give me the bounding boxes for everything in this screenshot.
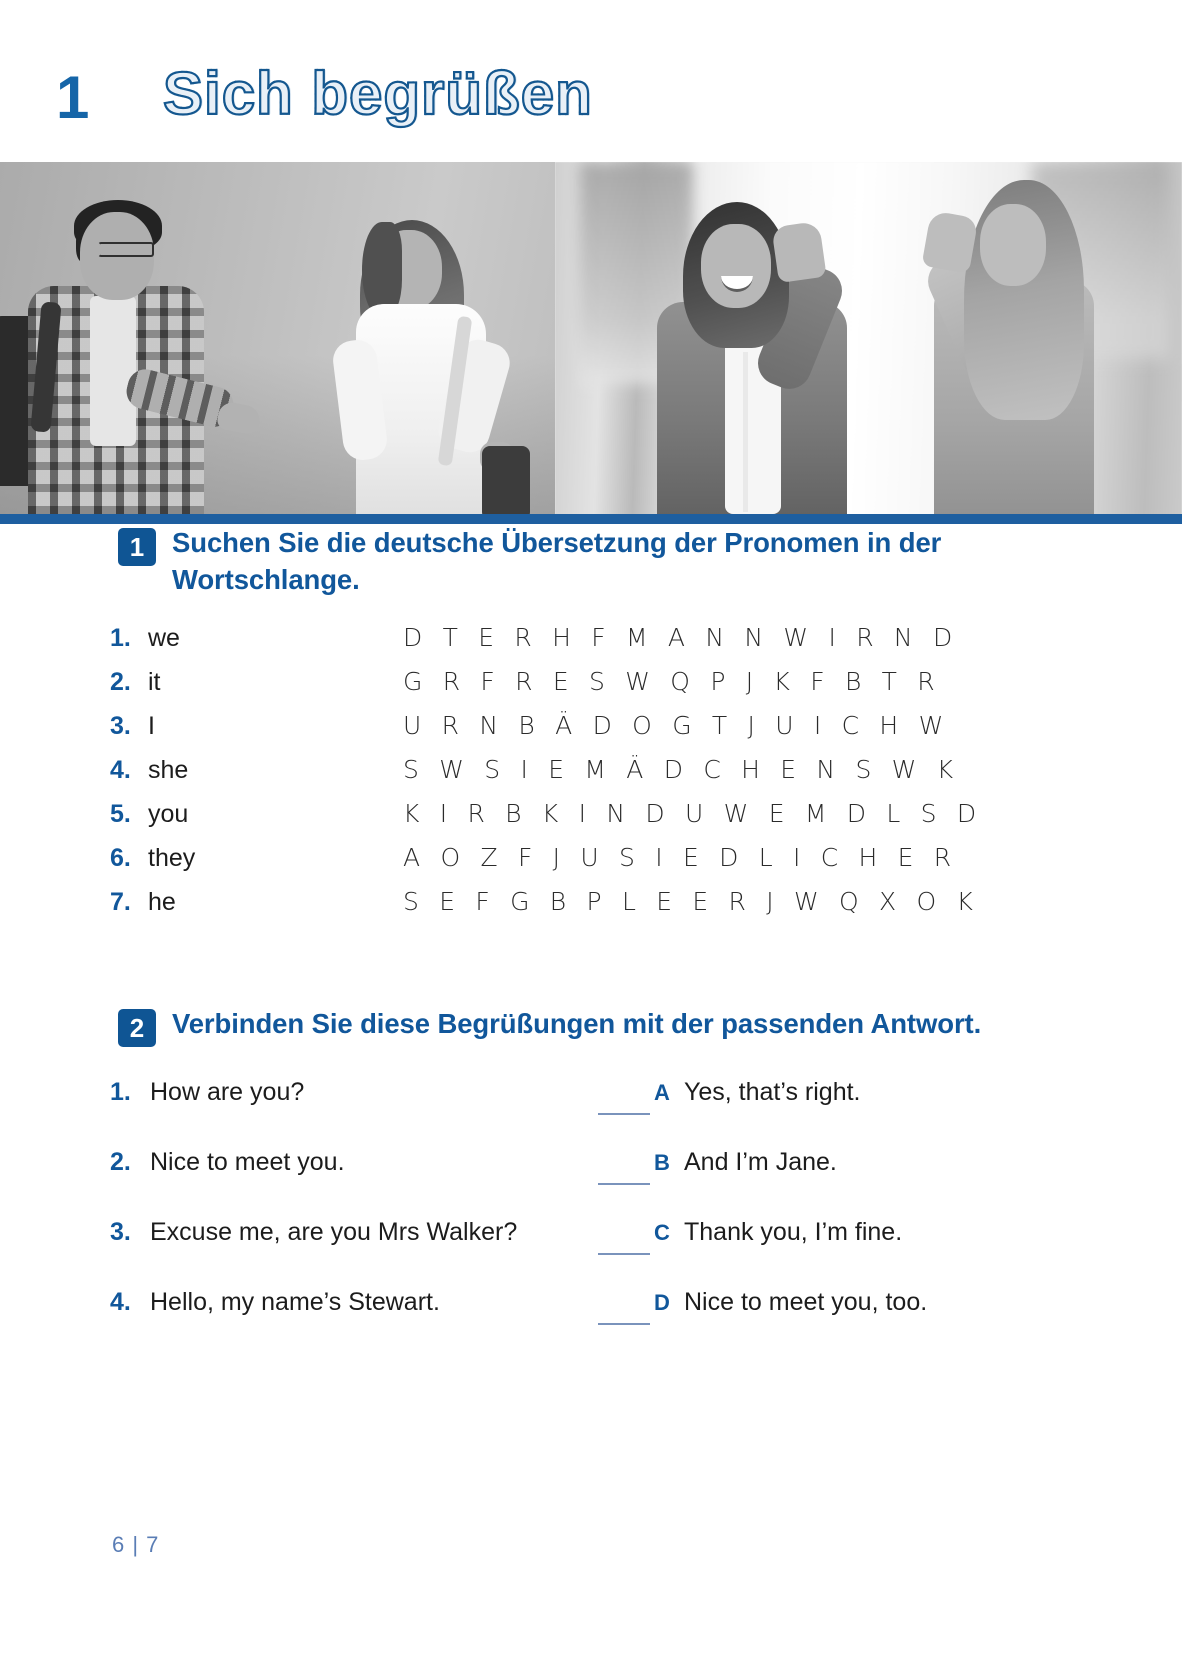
shoulder-bag — [482, 446, 530, 520]
list-item: 4. she S W S I E M Ä D C H E N S W K — [110, 755, 1182, 799]
letter-chain[interactable]: S W S I E M Ä D C H E N S W K — [403, 755, 959, 784]
person-female-student — [330, 220, 555, 520]
exercise-1: 1 Suchen Sie die deutsche Übersetzung de… — [0, 524, 1182, 931]
waving-hand — [771, 221, 826, 283]
item-number: 5. — [110, 800, 148, 829]
inner-shirt — [90, 296, 136, 446]
prompt-text: How are you? — [150, 1075, 598, 1111]
letter-chain[interactable]: K I R B K I N D U W E M D L S D — [403, 799, 982, 828]
item-number: 1. — [110, 624, 148, 653]
letter-chain[interactable]: U R N B Ä D O G T J U I C H W — [403, 711, 950, 740]
table-row: 2. Nice to meet you. B And I’m Jane. — [110, 1145, 1112, 1185]
answer-blank[interactable] — [598, 1229, 650, 1255]
list-item: 7. he S E F G B P L E E R J W Q X O K — [110, 887, 1182, 931]
page-header: 1 Sich begrüßen — [0, 0, 1182, 162]
option-letter: C — [650, 1215, 684, 1250]
exercise-2: 2 Verbinden Sie diese Begrüßungen mit de… — [0, 1005, 1182, 1325]
word-snake-list: 1. we D T E R H F M A N N W I R N D 2. i… — [0, 623, 1182, 931]
option-text: Thank you, I’m fine. — [684, 1215, 1112, 1251]
option-text: And I’m Jane. — [684, 1145, 1112, 1181]
glasses-icon — [98, 242, 154, 257]
page-title: Sich begrüßen — [163, 64, 593, 124]
item-number: 1. — [110, 1075, 150, 1111]
list-item: 2. it G R F R E S W Q P J K F B T R — [110, 667, 1182, 711]
item-number: 3. — [110, 1215, 150, 1251]
exercise-1-heading: 1 Suchen Sie die deutsche Übersetzung de… — [0, 524, 1182, 599]
face — [701, 224, 771, 308]
letter-chain[interactable]: G R F R E S W Q P J K F B T R — [403, 667, 941, 696]
item-number: 6. — [110, 844, 148, 873]
exercise-2-badge: 2 — [118, 1009, 156, 1047]
item-number: 4. — [110, 756, 148, 785]
item-number: 4. — [110, 1285, 150, 1321]
exercise-2-heading: 2 Verbinden Sie diese Begrüßungen mit de… — [0, 1005, 1182, 1047]
item-number: 3. — [110, 712, 148, 741]
option-letter: D — [650, 1285, 684, 1320]
pronoun-word: I — [148, 712, 403, 741]
page-number-footer: 6 | 7 — [112, 1532, 159, 1558]
option-letter: A — [650, 1075, 684, 1110]
pronoun-word: they — [148, 844, 403, 873]
photo-friends-waving — [555, 162, 1182, 520]
list-item: 6. they A O Z F J U S I E D L I C H E R — [110, 843, 1182, 887]
item-number: 2. — [110, 668, 148, 697]
pronoun-word: she — [148, 756, 403, 785]
photo-students-greeting — [0, 162, 555, 520]
table-row: 4. Hello, my name’s Stewart. D Nice to m… — [110, 1285, 1112, 1325]
photo-divider-rule — [0, 514, 1182, 524]
answer-blank[interactable] — [598, 1299, 650, 1325]
photo-band — [0, 162, 1182, 520]
letter-chain[interactable]: D T E R H F M A N N W I R N D — [403, 623, 958, 652]
prompt-text: Nice to meet you. — [150, 1145, 598, 1181]
pronoun-word: it — [148, 668, 403, 697]
item-number: 7. — [110, 888, 148, 917]
chapter-number: 1 — [56, 68, 88, 128]
person-male-student — [0, 190, 244, 520]
letter-chain[interactable]: A O Z F J U S I E D L I C H E R — [403, 843, 957, 872]
exercise-1-badge: 1 — [118, 528, 156, 566]
answer-blank[interactable] — [598, 1089, 650, 1115]
list-item: 1. we D T E R H F M A N N W I R N D — [110, 623, 1182, 667]
letter-chain[interactable]: S E F G B P L E E R J W Q X O K — [403, 887, 979, 916]
person-waving-right — [874, 180, 1124, 520]
exercise-1-title: Suchen Sie die deutsche Übersetzung der … — [172, 524, 992, 599]
matching-exercise-grid: 1. How are you? A Yes, that’s right. 2. … — [0, 1075, 1182, 1325]
face — [980, 204, 1046, 286]
prompt-text: Excuse me, are you Mrs Walker? — [150, 1215, 598, 1251]
answer-blank[interactable] — [598, 1159, 650, 1185]
waving-hand — [922, 210, 979, 273]
option-letter: B — [650, 1145, 684, 1180]
list-item: 5. you K I R B K I N D U W E M D L S D — [110, 799, 1182, 843]
person-waving-left — [647, 202, 887, 520]
prompt-text: Hello, my name’s Stewart. — [150, 1285, 598, 1321]
exercise-2-title: Verbinden Sie diese Begrüßungen mit der … — [172, 1005, 981, 1042]
pronoun-word: we — [148, 624, 403, 653]
table-row: 1. How are you? A Yes, that’s right. — [110, 1075, 1112, 1115]
jacket-placket — [743, 352, 748, 512]
list-item: 3. I U R N B Ä D O G T J U I C H W — [110, 711, 1182, 755]
page-content: 1 Suchen Sie die deutsche Übersetzung de… — [0, 524, 1182, 1355]
pronoun-word: he — [148, 888, 403, 917]
option-text: Yes, that’s right. — [684, 1075, 1112, 1111]
item-number: 2. — [110, 1145, 150, 1181]
option-text: Nice to meet you, too. — [684, 1285, 1112, 1321]
pronoun-word: you — [148, 800, 403, 829]
table-row: 3. Excuse me, are you Mrs Walker? C Than… — [110, 1215, 1112, 1255]
